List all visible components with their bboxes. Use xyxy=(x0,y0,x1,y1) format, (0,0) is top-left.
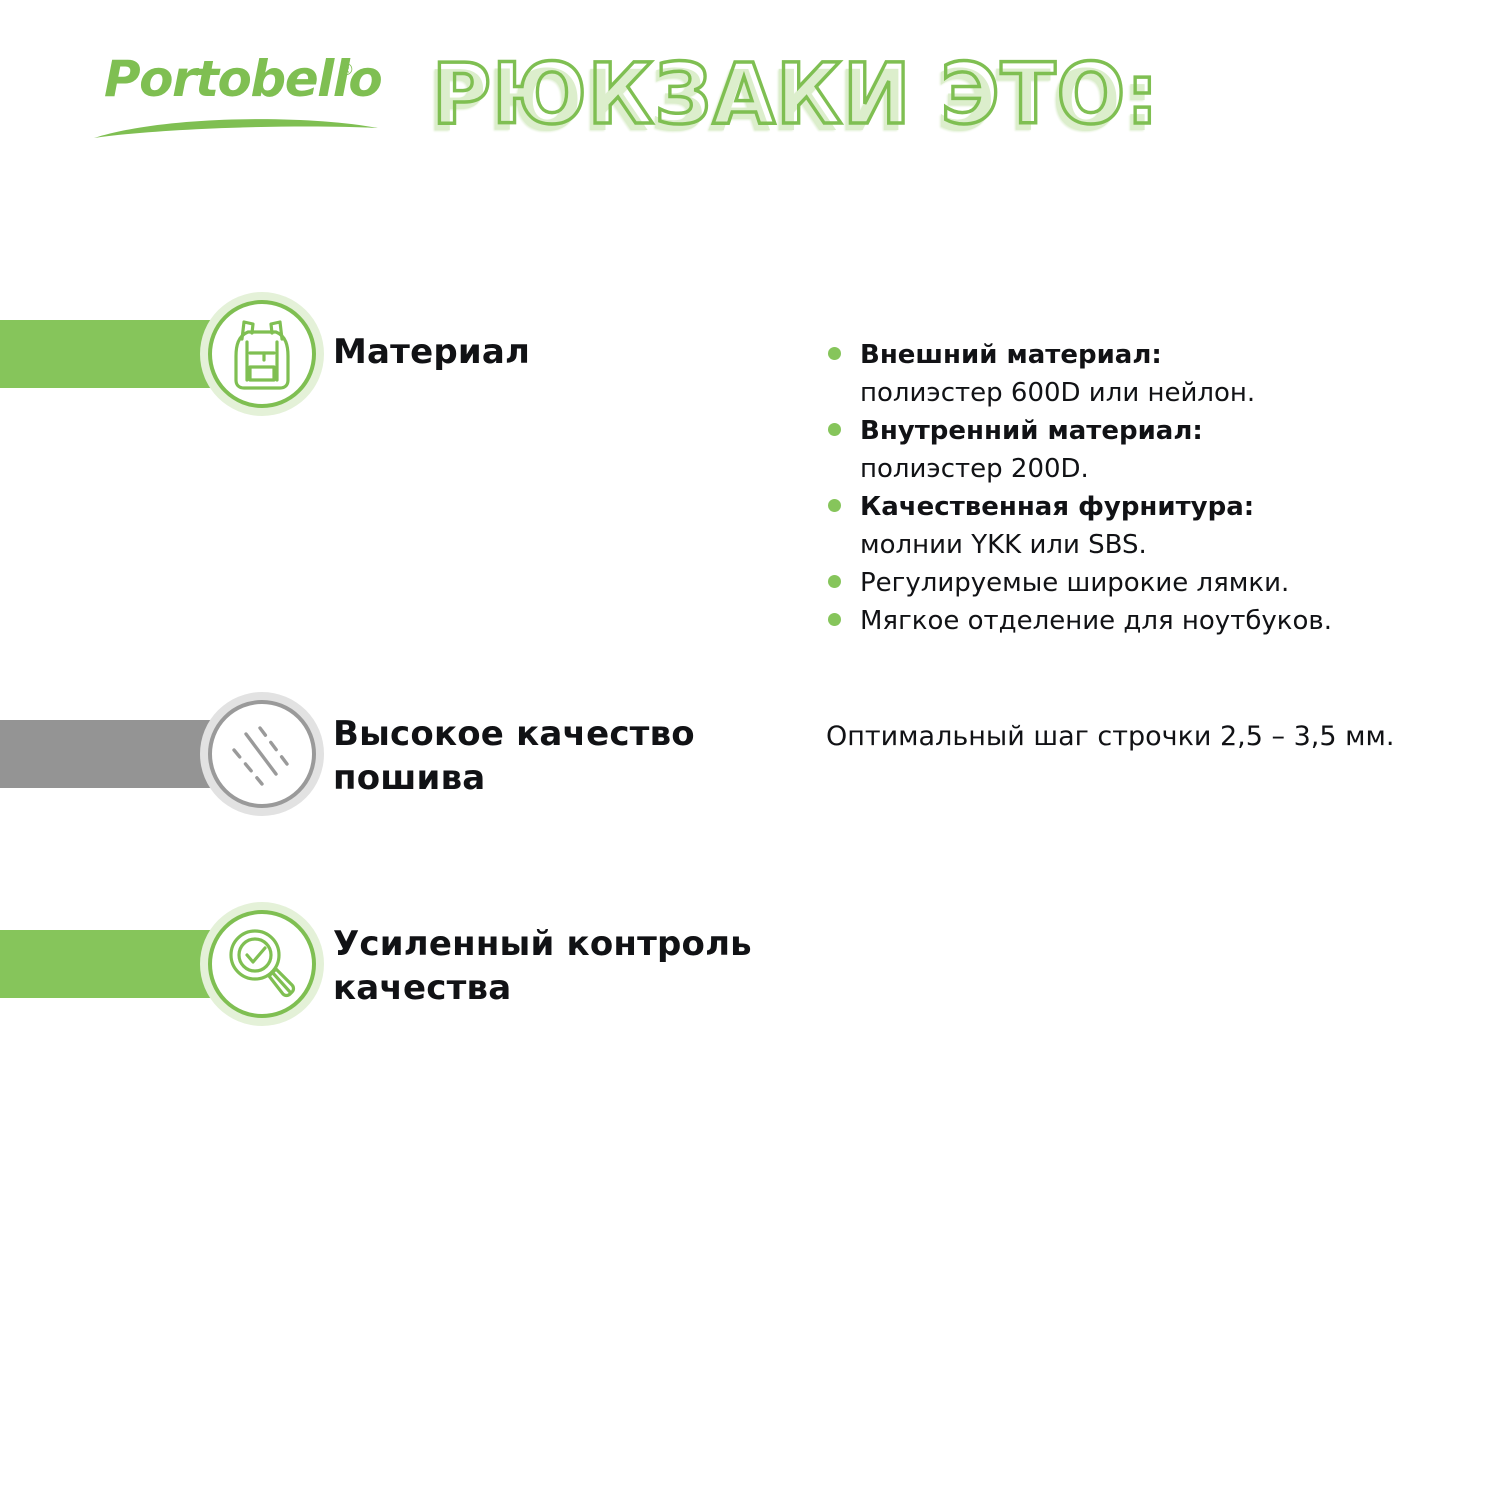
icon-badge-material xyxy=(200,292,324,416)
list-item-title: Качественная фурнитура: xyxy=(860,488,1446,526)
section-heading-control: Усиленный контроль качества xyxy=(333,922,752,1010)
list-item: Мягкое отделение для ноутбуков. xyxy=(826,602,1446,640)
list-item-title: Внутренний материал: xyxy=(860,412,1446,450)
stitch-pitch-note: Оптимальный шаг строчки 2,5 – 3,5 мм. xyxy=(826,718,1394,756)
section-heading-stitch: Высокое качество пошива xyxy=(333,712,695,800)
page-header: Portobello ® РЮКЗАКИ ЭТО: xyxy=(0,0,1500,230)
bullet-dot-icon xyxy=(828,613,841,626)
logo-swoosh-icon xyxy=(92,112,380,142)
stitching-icon xyxy=(220,712,304,796)
section-heading-material: Материал xyxy=(333,330,530,374)
list-item: Внутренний материал: полиэстер 200D. xyxy=(826,412,1446,488)
list-item-text: полиэстер 200D. xyxy=(860,450,1446,488)
list-item: Качественная фурнитура: молнии YKK или S… xyxy=(826,488,1446,564)
list-item-text: молнии YKK или SBS. xyxy=(860,526,1446,564)
list-item: Регулируемые широкие лямки. xyxy=(826,564,1446,602)
brand-logo: Portobello ® xyxy=(104,54,404,154)
bullet-dot-icon xyxy=(828,575,841,588)
list-item-text: полиэстер 600D или нейлон. xyxy=(860,374,1446,412)
bullet-dot-icon xyxy=(828,347,841,360)
material-bullet-list: Внешний материал: полиэстер 600D или ней… xyxy=(826,336,1446,640)
page-title-text: РЮКЗАКИ ЭТО: xyxy=(432,44,1162,144)
bullet-dot-icon xyxy=(828,499,841,512)
magnifier-check-icon xyxy=(220,922,304,1006)
list-item: Внешний материал: полиэстер 600D или ней… xyxy=(826,336,1446,412)
icon-badge-control xyxy=(200,902,324,1026)
list-item-title: Внешний материал: xyxy=(860,336,1446,374)
page-title: РЮКЗАКИ ЭТО: xyxy=(432,44,1192,154)
list-item-text: Регулируемые широкие лямки. xyxy=(860,564,1446,602)
bullet-dot-icon xyxy=(828,423,841,436)
backpack-icon xyxy=(220,312,304,396)
list-item-text: Мягкое отделение для ноутбуков. xyxy=(860,602,1446,640)
registered-trademark-icon: ® xyxy=(340,60,353,80)
icon-badge-stitch xyxy=(200,692,324,816)
